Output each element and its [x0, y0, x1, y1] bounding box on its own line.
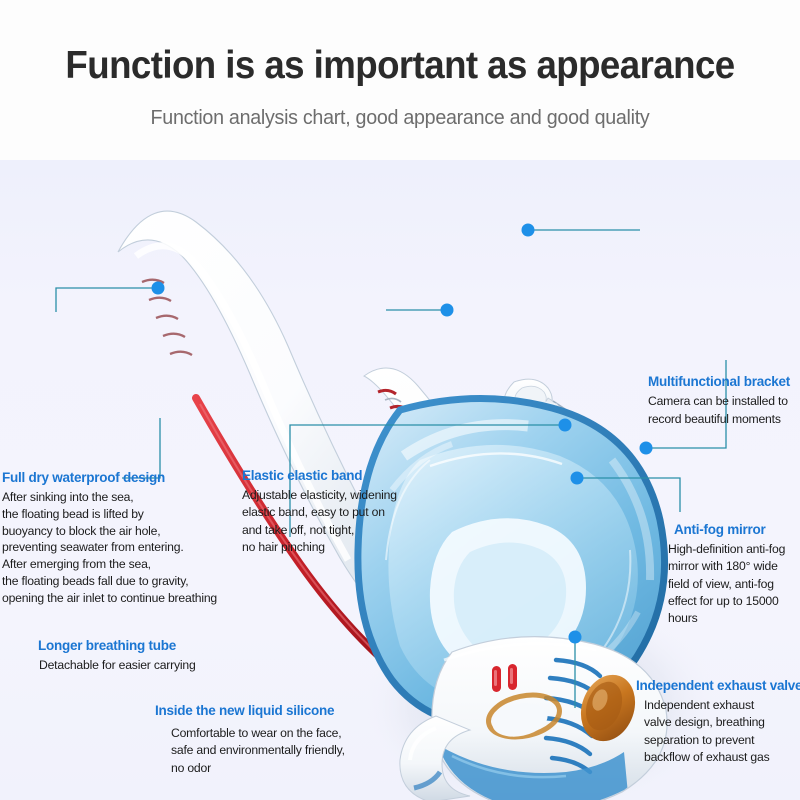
connector-breathing-tube	[122, 418, 160, 478]
callout-body: Detachable for easier carrying	[38, 657, 196, 674]
dot-exhaust-valve	[571, 472, 584, 485]
page-subtitle: Function analysis chart, good appearance…	[16, 106, 784, 130]
callout-full-dry-waterproof-design: Full dry waterproof design After sinking…	[2, 470, 217, 607]
dot-anti-fog	[640, 442, 653, 455]
callout-elastic-elastic-band: Elastic elastic band Adjustable elastici…	[242, 468, 397, 556]
callout-title: Elastic elastic band	[242, 468, 397, 483]
dot-elastic-band	[441, 304, 454, 317]
callout-body: High-definition anti-fog mirror with 180…	[668, 541, 785, 628]
dot-full-dry	[152, 282, 165, 295]
callout-body: After sinking into the sea, the floating…	[2, 489, 217, 607]
infographic-panel: Full dry waterproof design After sinking…	[0, 160, 800, 800]
dot-drain-valve	[569, 631, 582, 644]
page-title: Function is as important as appearance	[24, 44, 776, 88]
callout-body: Camera can be installed to record beauti…	[648, 393, 790, 428]
callout-body: Comfortable to wear on the face, safe an…	[155, 725, 345, 777]
callout-title: Full dry waterproof design	[2, 470, 217, 485]
page-header: Function is as important as appearance F…	[0, 0, 800, 160]
callout-title: Longer breathing tube	[38, 638, 196, 653]
dot-bracket	[522, 224, 535, 237]
callout-anti-fog-mirror: Anti-fog mirror High-definition anti-fog…	[668, 522, 785, 628]
callout-body: Adjustable elasticity, widening elastic …	[242, 487, 397, 556]
callout-title: Anti-fog mirror	[668, 522, 785, 537]
callout-inside-the-new-liquid-silicone: Inside the new liquid silicone Comfortab…	[155, 703, 345, 777]
connector-exhaust-valve	[577, 478, 680, 512]
callout-independent-exhaust-valve: Independent exhaust valve Independent ex…	[636, 678, 800, 766]
callout-longer-breathing-tube: Longer breathing tube Detachable for eas…	[38, 638, 196, 674]
callout-title: Multifunctional bracket	[648, 374, 790, 389]
callout-multifunctional-bracket: Multifunctional bracket Camera can be in…	[648, 374, 790, 428]
dot-silicone	[559, 419, 572, 432]
callout-body: Independent exhaust valve design, breath…	[636, 697, 800, 766]
connector-dots	[152, 224, 653, 644]
callout-title: Independent exhaust valve	[636, 678, 800, 693]
connector-full-dry	[56, 288, 158, 312]
callout-title: Inside the new liquid silicone	[155, 703, 345, 718]
